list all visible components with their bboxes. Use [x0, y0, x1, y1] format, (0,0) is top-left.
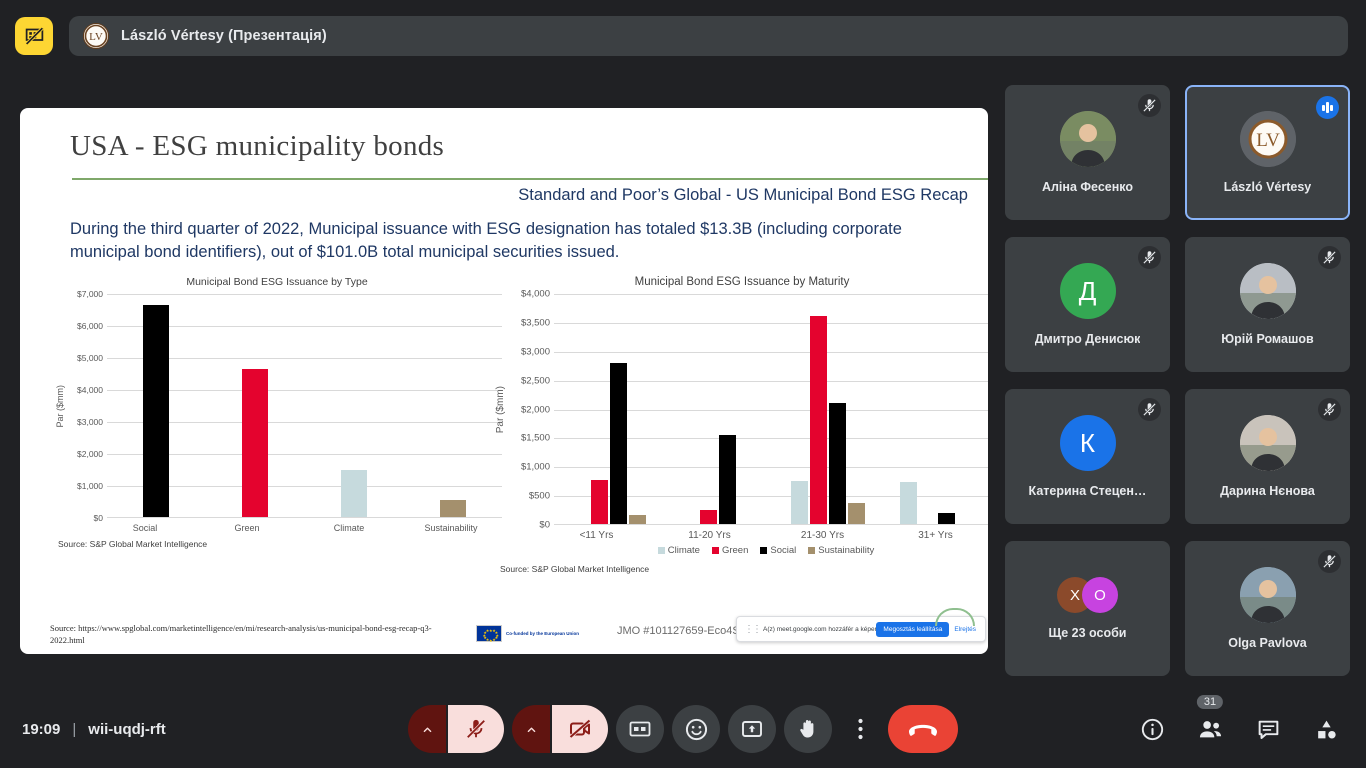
participant-tile[interactable]: Дарина Нєнова — [1185, 389, 1350, 524]
speaking-indicator-icon — [1316, 96, 1339, 119]
chart1-y-ticks: $0$1,000$2,000$3,000$4,000$5,000$6,000$7… — [65, 294, 107, 518]
y-tick-label: $1,500 — [521, 433, 550, 444]
microphone-muted-icon — [1138, 246, 1161, 269]
participant-count-badge: 31 — [1197, 695, 1223, 709]
participants-button[interactable]: 31 — [1188, 707, 1232, 751]
svg-text:LV: LV — [1256, 130, 1280, 151]
x-tick-label: 11-20 Yrs — [653, 525, 766, 541]
participant-name: Olga Pavlova — [1228, 636, 1307, 650]
bar — [938, 513, 955, 524]
participant-tile[interactable]: Аліна Фесенко — [1005, 85, 1170, 220]
legend-item: Social — [760, 545, 796, 556]
avatar: К — [1060, 415, 1116, 471]
mic-options-button[interactable] — [408, 705, 446, 753]
bar — [440, 500, 466, 517]
legend-swatch — [760, 547, 767, 554]
chart2-bars — [554, 294, 988, 525]
avatar: Д — [1060, 263, 1116, 319]
bar — [810, 316, 827, 524]
participant-tile[interactable]: ДДмитро Денисюк — [1005, 237, 1170, 372]
participant-tile[interactable]: Юрій Ромашов — [1185, 237, 1350, 372]
bar-container — [554, 294, 988, 524]
hide-notification-link[interactable]: Elrejtés — [949, 626, 981, 633]
title-divider — [72, 178, 988, 180]
presenter-name: László Vértesy (Презентація) — [121, 28, 327, 44]
y-tick-label: $2,000 — [521, 404, 550, 415]
leave-call-button[interactable] — [888, 705, 958, 753]
chart2-x-ticks: <11 Yrs11-20 Yrs21-30 Yrs31+ Yrs — [540, 525, 988, 541]
chrome-screen-share-notification[interactable]: ⋮⋮ A(z) meet.google.com hozzáfér a képer… — [736, 616, 986, 642]
participant-name: László Vértesy — [1224, 180, 1312, 194]
captions-button[interactable] — [616, 705, 664, 753]
activities-button[interactable] — [1304, 707, 1348, 751]
audio-level-bar — [1326, 102, 1329, 113]
participant-name: Аліна Фесенко — [1042, 180, 1133, 194]
right-toolbar: 31 — [1130, 707, 1348, 751]
legend-swatch — [808, 547, 815, 554]
bar — [143, 305, 169, 517]
bar — [242, 369, 268, 517]
avatar — [1240, 263, 1296, 319]
legend-item: Sustainability — [808, 545, 874, 556]
presenter-avatar-icon: LV — [83, 23, 109, 49]
camera-off-icon[interactable] — [552, 705, 608, 753]
bar — [829, 403, 846, 524]
x-tick-label: Social — [94, 518, 196, 533]
microphone-muted-icon — [1138, 94, 1161, 117]
microphone-muted-icon — [1318, 550, 1341, 573]
legend-label: Social — [770, 545, 796, 556]
presentation-off-icon[interactable] — [15, 17, 53, 55]
legend-label: Climate — [668, 545, 700, 556]
y-tick-label: $2,000 — [77, 449, 103, 459]
eu-funding-text: Co-funded by the European Union — [506, 631, 579, 637]
y-tick-label: $4,000 — [77, 385, 103, 395]
overflow-avatars: ХО — [1057, 577, 1118, 613]
bar — [848, 503, 865, 524]
microphone-muted-icon — [1318, 398, 1341, 421]
meeting-code: wii-uqdj-rft — [88, 721, 165, 738]
y-tick-label: $0 — [539, 520, 550, 531]
bar — [700, 510, 717, 524]
bar-group — [554, 294, 664, 524]
avatar: О — [1082, 577, 1118, 613]
y-tick-label: $7,000 — [77, 289, 103, 299]
avatar — [1240, 415, 1296, 471]
notification-arc-decoration — [935, 608, 975, 626]
y-tick-label: $3,000 — [77, 417, 103, 427]
top-bar: LV László Vértesy (Презентація) — [0, 0, 1366, 72]
y-tick-label: $6,000 — [77, 321, 103, 331]
camera-control — [512, 705, 608, 753]
presentation-slide: USA - ESG municipality bonds Standard an… — [20, 108, 988, 654]
y-tick-label: $1,000 — [521, 462, 550, 473]
chart1-plot-area: Par ($mm) $0$1,000$2,000$3,000$4,000$5,0… — [52, 294, 502, 518]
reactions-button[interactable] — [672, 705, 720, 753]
y-tick-label: $3,000 — [521, 346, 550, 357]
y-tick-label: $500 — [529, 491, 550, 502]
participant-name: Дмитро Денисюк — [1035, 332, 1141, 346]
x-tick-label: 21-30 Yrs — [766, 525, 879, 541]
chart1-x-ticks: SocialGreenClimateSustainability — [94, 518, 502, 533]
microphone-off-icon[interactable] — [448, 705, 504, 753]
chart2-y-ticks: $0$500$1,000$1,500$2,000$2,500$3,000$3,5… — [506, 294, 554, 525]
share-notice-text: A(z) meet.google.com hozzáfér a képernyő… — [763, 626, 876, 633]
chart-issuance-by-type: Municipal Bond ESG Issuance by Type Par … — [52, 276, 502, 566]
chat-button[interactable] — [1246, 707, 1290, 751]
legend-item: Green — [712, 545, 748, 556]
microphone-muted-icon — [1138, 398, 1161, 421]
drag-handle-icon[interactable]: ⋮⋮ — [741, 624, 763, 635]
bottom-toolbar: 19:09 | wii-uqdj-rft — [0, 690, 1366, 768]
bar — [341, 470, 367, 517]
meeting-details-button[interactable] — [1130, 707, 1174, 751]
eu-funding-logo: ★★★★★★★★★★★★ Co-funded by the European U… — [476, 625, 579, 642]
chart1-y-axis-label: Par ($mm) — [52, 385, 65, 428]
bar — [791, 481, 808, 524]
eu-flag-icon: ★★★★★★★★★★★★ — [476, 625, 502, 642]
bar-group — [305, 294, 404, 517]
y-tick-label: $1,000 — [77, 481, 103, 491]
participant-tile[interactable]: Olga Pavlova — [1185, 541, 1350, 676]
x-tick-label: 31+ Yrs — [879, 525, 988, 541]
bar-group — [206, 294, 305, 517]
avatar — [1060, 111, 1116, 167]
bar-container — [107, 294, 502, 517]
microphone-control — [408, 705, 504, 753]
avatar — [1240, 567, 1296, 623]
bar — [629, 515, 646, 524]
slide-subtitle: Standard and Poor’s Global - US Municipa… — [518, 186, 968, 205]
y-tick-label: $4,000 — [521, 289, 550, 300]
bar — [610, 363, 627, 524]
legend-item: Climate — [658, 545, 700, 556]
bar-group — [773, 294, 883, 524]
present-screen-button[interactable] — [728, 705, 776, 753]
participant-tile[interactable]: LV László Vértesy — [1185, 85, 1350, 220]
audio-level-bar — [1322, 105, 1325, 111]
raise-hand-button[interactable] — [784, 705, 832, 753]
bar-group — [107, 294, 206, 517]
legend-swatch — [712, 547, 719, 554]
y-tick-label: $2,500 — [521, 375, 550, 386]
x-tick-label: Green — [196, 518, 298, 533]
svg-text:LV: LV — [89, 31, 103, 43]
chart2-source: Source: S&P Global Market Intelligence — [500, 564, 988, 574]
presenter-chip[interactable]: LV László Vértesy (Презентація) — [69, 16, 1348, 56]
bar-group — [403, 294, 502, 517]
y-tick-label: $5,000 — [77, 353, 103, 363]
shared-screen-stage[interactable]: USA - ESG municipality bonds Standard an… — [20, 108, 988, 654]
bar — [591, 480, 608, 524]
meeting-info: 19:09 | wii-uqdj-rft — [22, 721, 166, 738]
slide-lead-paragraph: During the third quarter of 2022, Munici… — [70, 218, 970, 264]
clock: 19:09 — [22, 721, 60, 738]
participant-tile[interactable]: ККатерина Стецен… — [1005, 389, 1170, 524]
call-controls — [408, 705, 958, 753]
chart-issuance-by-maturity: Municipal Bond ESG Issuance by Maturity … — [492, 276, 988, 578]
bar-group — [664, 294, 774, 524]
audio-level-bar — [1330, 105, 1333, 111]
participant-grid: Аліна Фесенко LV László Vértesy ДДмитро … — [1005, 85, 1355, 676]
participant-name: Дарина Нєнова — [1220, 484, 1315, 498]
chart2-plot-area: Par ($mm) $0$500$1,000$1,500$2,000$2,500… — [492, 294, 988, 525]
x-tick-label: Climate — [298, 518, 400, 533]
chart1-title: Municipal Bond ESG Issuance by Type — [52, 276, 502, 288]
chart2-y-axis-label: Par ($mm) — [492, 386, 506, 433]
bar-group — [883, 294, 989, 524]
legend-label: Green — [722, 545, 748, 556]
y-tick-label: $0 — [94, 513, 103, 523]
bar — [900, 482, 917, 524]
chart2-title: Municipal Bond ESG Issuance by Maturity — [492, 276, 988, 288]
avatar: LV — [1240, 111, 1296, 167]
chart2-legend: ClimateGreenSocialSustainability — [540, 545, 988, 556]
chart1-source: Source: S&P Global Market Intelligence — [58, 539, 502, 549]
x-tick-label: Sustainability — [400, 518, 502, 533]
x-tick-label: <11 Yrs — [540, 525, 653, 541]
participant-tile[interactable]: ХОЩе 23 особи — [1005, 541, 1170, 676]
y-tick-label: $3,500 — [521, 317, 550, 328]
google-meet-window: LV László Vértesy (Презентація) USA - ES… — [0, 0, 1366, 768]
camera-options-button[interactable] — [512, 705, 550, 753]
participant-name: Ще 23 особи — [1048, 626, 1126, 640]
chart1-bars — [107, 294, 502, 518]
bar — [719, 435, 736, 524]
slide-footer-source: Source: https://www.spglobal.com/marketi… — [50, 623, 458, 646]
slide-title: USA - ESG municipality bonds — [70, 130, 444, 163]
more-options-button[interactable] — [840, 705, 880, 753]
meta-separator: | — [72, 721, 76, 738]
participant-name: Катерина Стецен… — [1029, 484, 1147, 498]
participant-name: Юрій Ромашов — [1221, 332, 1313, 346]
legend-swatch — [658, 547, 665, 554]
microphone-muted-icon — [1318, 246, 1341, 269]
legend-label: Sustainability — [818, 545, 874, 556]
